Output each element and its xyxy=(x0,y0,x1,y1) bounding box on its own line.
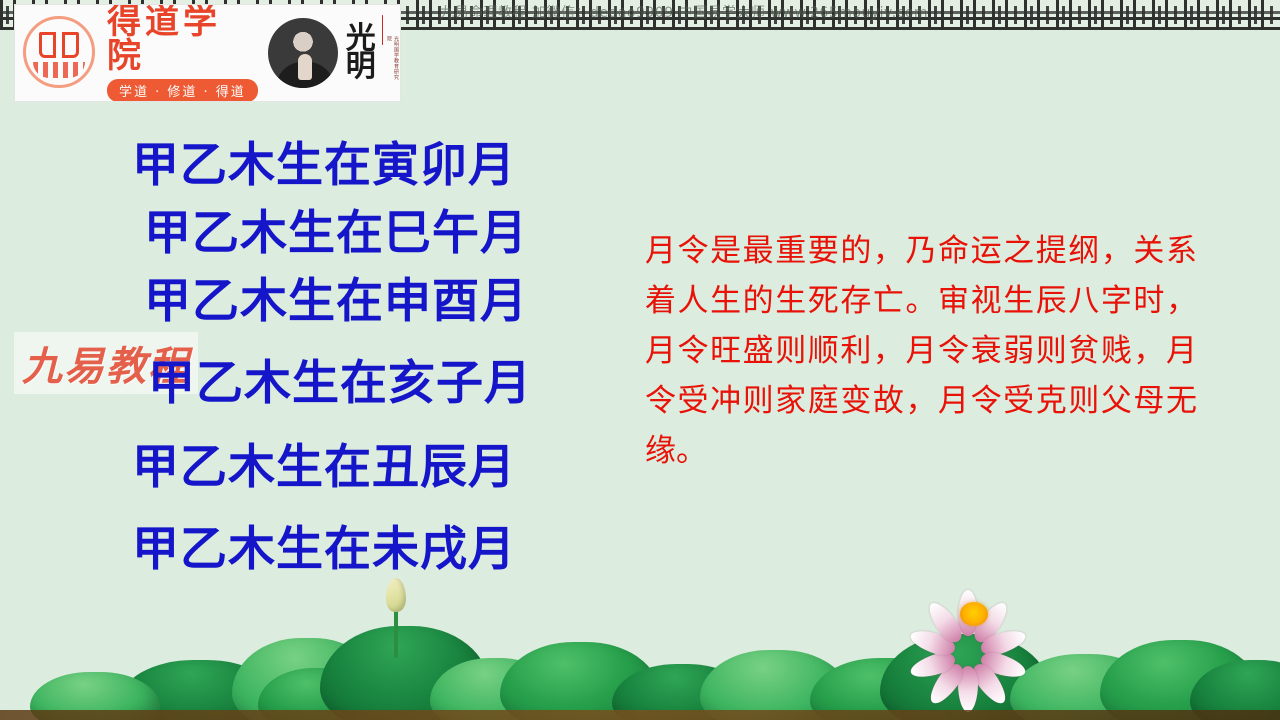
lily-pad xyxy=(880,634,1050,720)
lotus-flower-base xyxy=(956,636,992,660)
portrait-praying-hands xyxy=(298,54,312,80)
lotus-petal xyxy=(908,649,958,682)
lotus-decoration-band xyxy=(0,570,1280,720)
lily-pad xyxy=(1010,654,1160,720)
lily-pad xyxy=(30,672,160,720)
portrait-disc xyxy=(268,18,338,88)
verse-line: 甲乙木生在巳午月 xyxy=(144,200,640,268)
lotus-petal xyxy=(968,659,1011,708)
lotus-petal xyxy=(978,649,1028,682)
lotus-petal xyxy=(958,590,978,636)
lotus-flower-core xyxy=(960,602,988,626)
lotus-petal xyxy=(908,626,958,659)
lily-pad xyxy=(612,664,752,720)
lotus-petal xyxy=(978,626,1028,659)
lily-pad xyxy=(120,660,280,720)
brand-stamp-icon xyxy=(382,15,383,45)
logo-text-column: 得道学院 学道 · 修道 · 得道 xyxy=(101,5,258,102)
book-page-right xyxy=(62,32,79,58)
academy-slogan: 学道 · 修道 · 得道 xyxy=(107,79,258,102)
verse-column: 甲乙木生在寅卯月 甲乙木生在巳午月 甲乙木生在申酉月 甲乙木生在亥子月 甲乙木生… xyxy=(110,132,640,584)
lily-pad xyxy=(700,650,850,720)
book-page-left xyxy=(39,32,56,58)
lotus-petal xyxy=(969,598,1012,647)
lily-pad xyxy=(232,638,382,720)
lily-pad xyxy=(258,668,378,720)
open-book-seal-icon xyxy=(19,12,101,94)
verse-line: 甲乙木生在寅卯月 xyxy=(132,132,640,200)
verse-line: 甲乙木生在未戌月 xyxy=(132,516,640,584)
commentary-paragraph: 月令是最重要的，乃命运之提纲，关系着人生的生死存亡。审视生辰八字时，月令旺盛则顺… xyxy=(645,226,1197,476)
teacher-portrait-icon xyxy=(266,16,340,90)
lily-pad xyxy=(810,658,960,720)
seal-wave-glyph xyxy=(33,62,85,78)
lotus-flower xyxy=(930,578,1026,662)
lily-pad xyxy=(500,642,660,720)
lotus-petal xyxy=(958,666,978,712)
logo-banner: 得道学院 学道 · 修道 · 得道 光明 光明国学教育研究院 xyxy=(14,4,401,102)
book-glyph xyxy=(39,32,79,58)
brand-fine-print: 光明国学教育研究院 xyxy=(386,36,400,84)
lily-pad xyxy=(320,626,490,720)
brand-name: 光明 xyxy=(346,25,376,82)
lily-pad xyxy=(430,658,560,720)
slide-canvas: 九易命理教程 加微信：dedao9909 中国易学大师 www.265mouyi… xyxy=(0,0,1280,720)
lotus-petal xyxy=(923,598,966,647)
lily-pad xyxy=(1190,660,1280,720)
verse-line: 甲乙木生在亥子月 xyxy=(148,350,640,418)
verse-line: 甲乙木生在申酉月 xyxy=(144,268,640,336)
verse-line: 甲乙木生在丑辰月 xyxy=(132,434,640,502)
ground-line xyxy=(0,710,1280,720)
lotus-petal xyxy=(925,659,968,708)
lotus-bud-stem xyxy=(394,604,398,658)
academy-name: 得道学院 xyxy=(107,5,258,73)
lily-pad xyxy=(1100,640,1260,720)
